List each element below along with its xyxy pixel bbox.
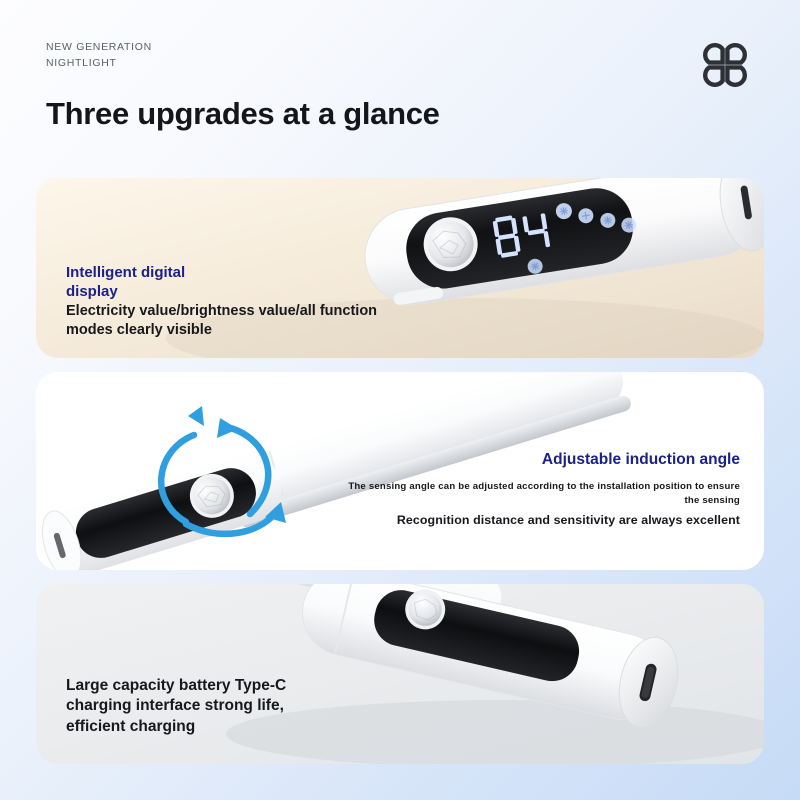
- eyebrow-line-1: NEW GENERATION: [46, 40, 152, 56]
- card1-body: Electricity value/brightness value/all f…: [66, 302, 377, 340]
- eyebrow-text: NEW GENERATION NIGHTLIGHT: [46, 40, 152, 72]
- card-intelligent-display: Intelligent digital display Electricity …: [36, 178, 764, 358]
- eyebrow-line-2: NIGHTLIGHT: [46, 56, 152, 72]
- card-induction-angle: Adjustable induction angle The sensing a…: [36, 372, 764, 570]
- card2-body-large: Recognition distance and sensitivity are…: [340, 512, 740, 529]
- page-title: Three upgrades at a glance: [46, 96, 440, 132]
- card3-body: Large capacity battery Type-C charging i…: [66, 676, 286, 737]
- card3-text-block: Large capacity battery Type-C charging i…: [66, 676, 286, 737]
- card2-body-small: The sensing angle can be adjusted accord…: [340, 480, 740, 508]
- card-battery-charging: Large capacity battery Type-C charging i…: [36, 584, 764, 764]
- card2-text-block: Adjustable induction angle The sensing a…: [340, 450, 740, 529]
- card1-text-block: Intelligent digital display Electricity …: [66, 263, 377, 340]
- card2-heading: Adjustable induction angle: [340, 450, 740, 470]
- four-petal-clover-logo-icon: [696, 36, 754, 94]
- card1-heading: Intelligent digital display: [66, 263, 377, 301]
